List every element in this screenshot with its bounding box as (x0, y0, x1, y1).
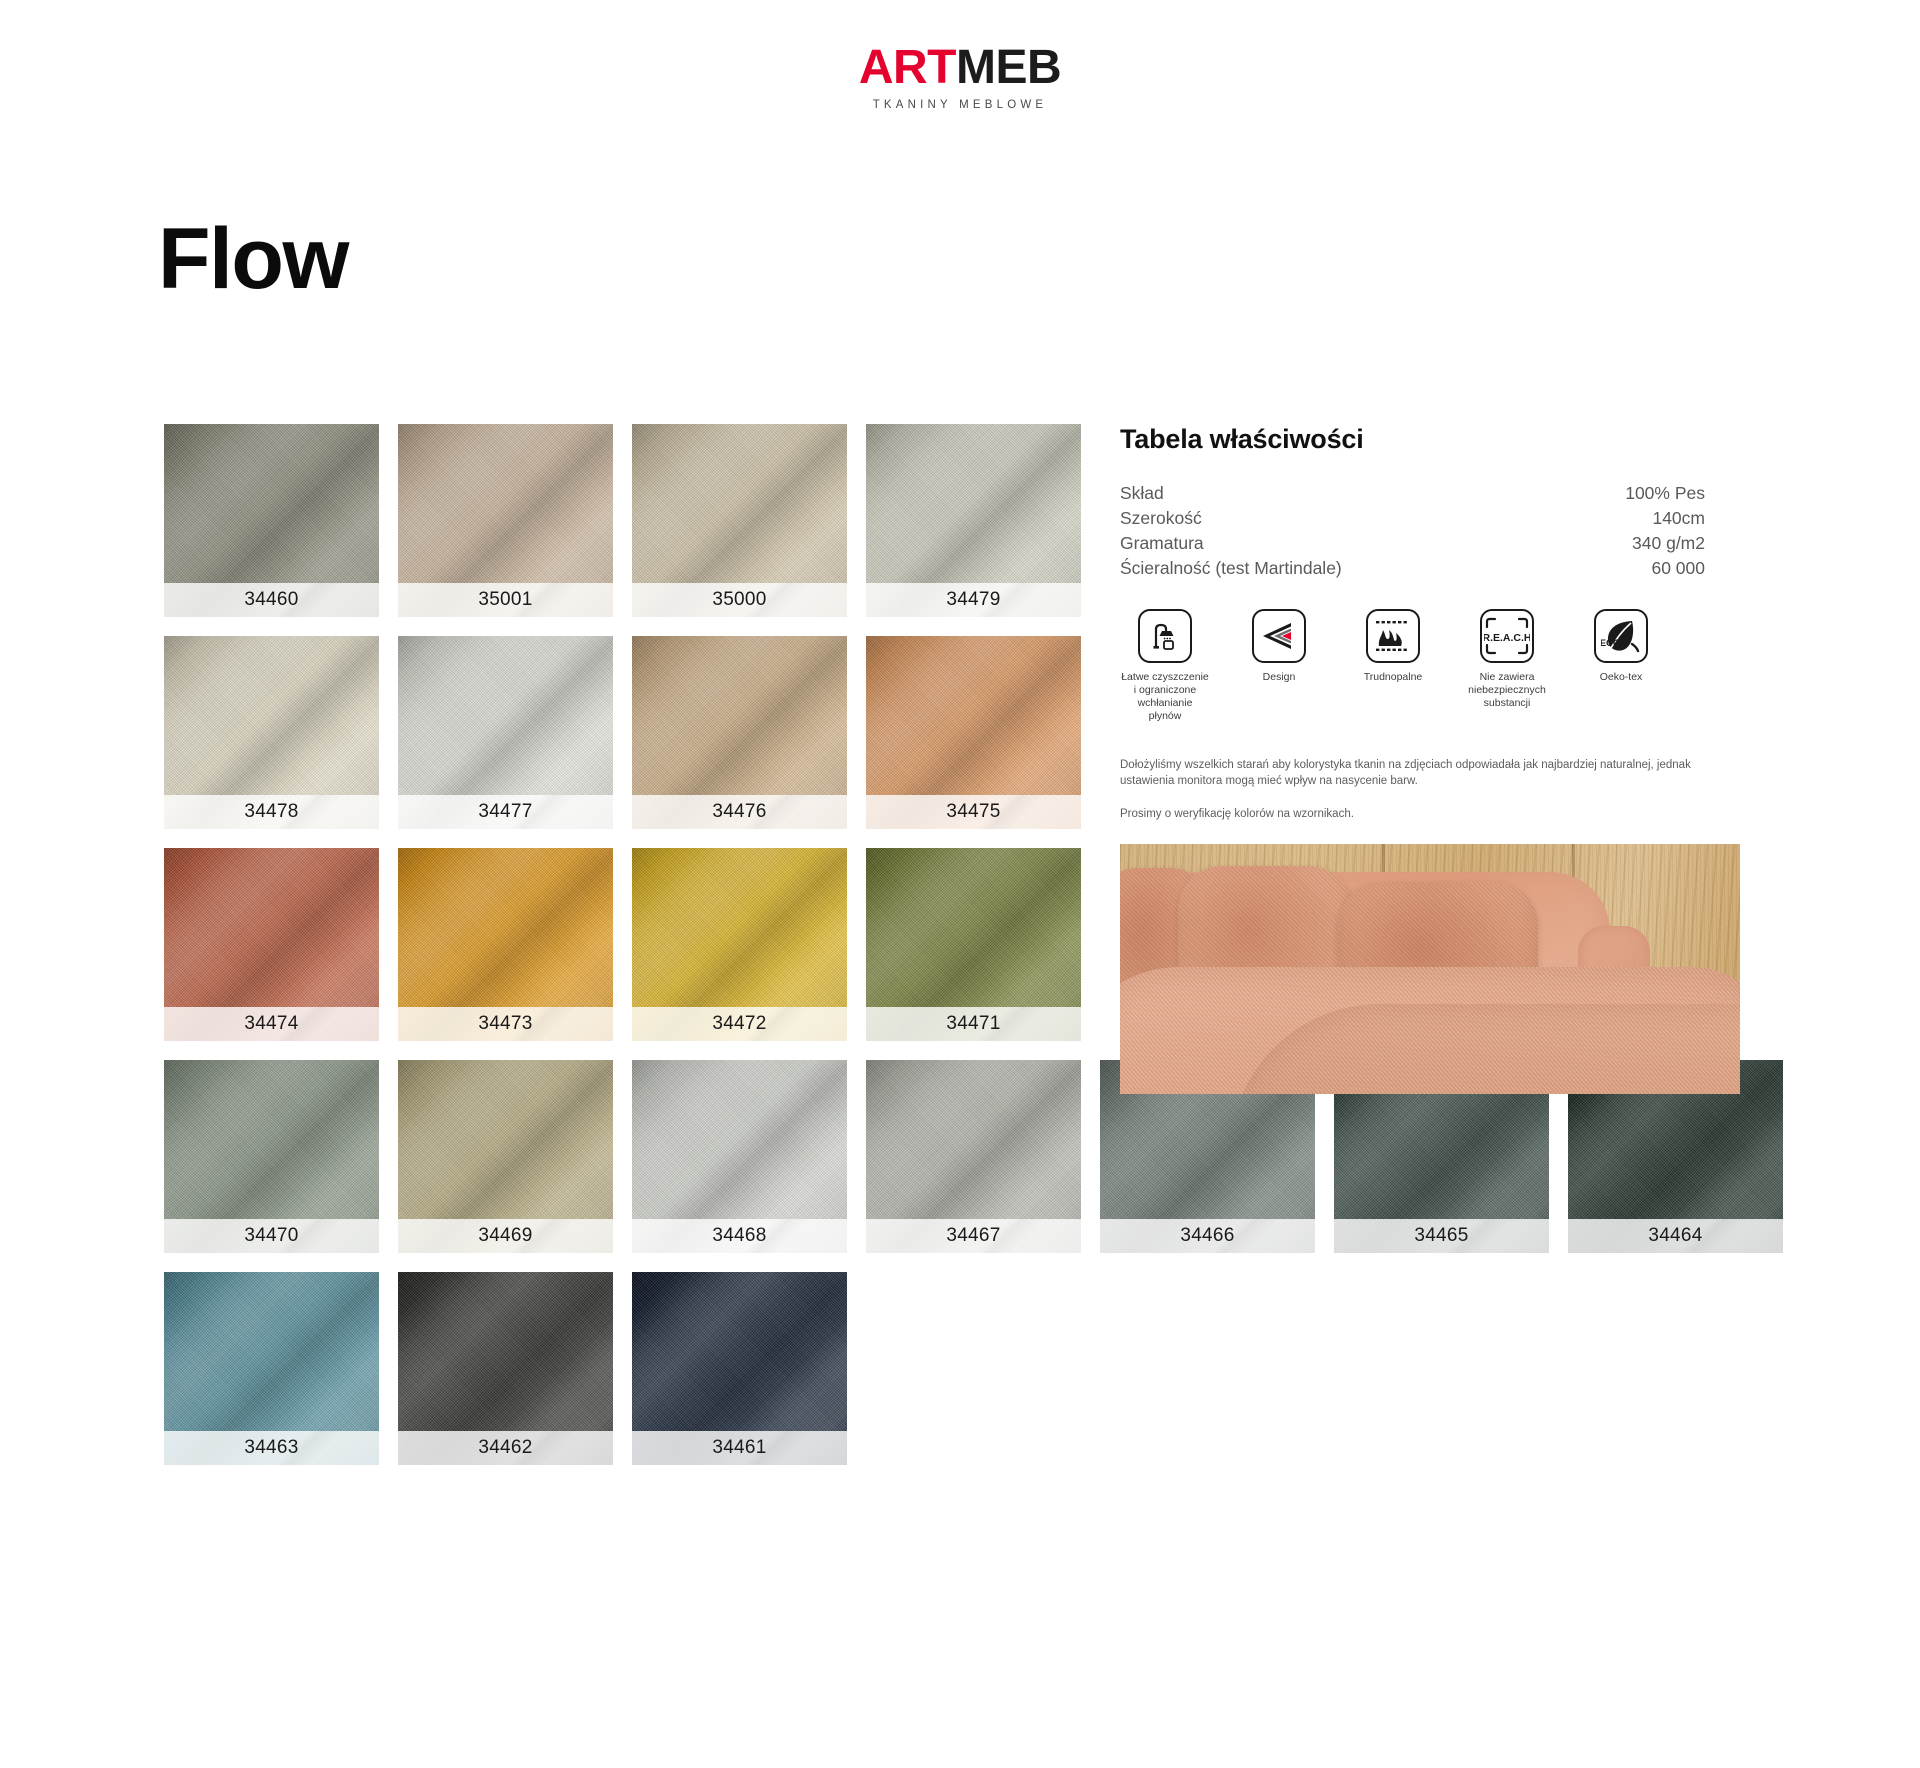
fabric-swatch[interactable]: 34479 (866, 424, 1081, 617)
fabric-swatch[interactable]: 35001 (398, 424, 613, 617)
swatch-code: 34466 (1180, 1225, 1234, 1247)
swatch-code: 34476 (712, 801, 766, 823)
swatch-code: 35001 (478, 589, 532, 611)
swatch-code: 34461 (712, 1437, 766, 1459)
feature-item-flame-retardant: Trudnopalne (1348, 609, 1438, 723)
swatch-label-band: 34478 (164, 795, 379, 829)
logo-art-text: ART (859, 41, 956, 94)
swatch-code: 34467 (946, 1225, 1000, 1247)
disclaimer-paragraph-2: Prosimy o weryfikację kolorów na wzornik… (1120, 806, 1740, 822)
fabric-swatch[interactable]: 35000 (632, 424, 847, 617)
fabric-swatch[interactable]: 34467 (866, 1060, 1081, 1253)
logo-tagline: TKANINY MEBLOWE (873, 99, 1048, 111)
brand-header: ARTMEB TKANINY MEBLOWE (0, 0, 1920, 111)
swatch-code: 34478 (244, 801, 298, 823)
svg-text:ECO: ECO (1601, 638, 1620, 649)
swatch-label-band: 35000 (632, 583, 847, 617)
easy-clean-icon (1138, 609, 1192, 663)
swatch-label-band: 34474 (164, 1007, 379, 1041)
swatch-label-band: 34473 (398, 1007, 613, 1041)
swatch-label-band: 34460 (164, 583, 379, 617)
fabric-swatch[interactable]: 34478 (164, 636, 379, 829)
property-value: 140cm (1652, 506, 1705, 531)
property-value: 60 000 (1651, 556, 1705, 581)
swatch-label-band: 34476 (632, 795, 847, 829)
swatch-code: 34462 (478, 1437, 532, 1459)
color-disclaimer: Dołożyliśmy wszelkich starań aby kolorys… (1120, 757, 1740, 822)
flame-retardant-icon (1366, 609, 1420, 663)
page-title: Flow (158, 216, 348, 302)
property-value: 100% Pes (1625, 481, 1705, 506)
swatch-code: 34464 (1648, 1225, 1702, 1247)
swatch-code: 34460 (244, 589, 298, 611)
fabric-swatch[interactable]: 34477 (398, 636, 613, 829)
svg-text:R.E.A.C.H: R.E.A.C.H (1484, 632, 1530, 644)
feature-item-reach: R.E.A.C.H Nie zawiera niebezpiecznych su… (1462, 609, 1552, 723)
property-row: Ścieralność (test Martindale)60 000 (1120, 556, 1705, 581)
swatch-code: 34479 (946, 589, 1000, 611)
reach-icon: R.E.A.C.H (1480, 609, 1534, 663)
swatch-label-band: 35001 (398, 583, 613, 617)
swatch-code: 34469 (478, 1225, 532, 1247)
property-value: 340 g/m2 (1632, 531, 1705, 556)
fabric-swatch[interactable]: 34472 (632, 848, 847, 1041)
swatch-label-band: 34479 (866, 583, 1081, 617)
feature-item-easy-clean: Łatwe czyszczenie i ograniczone wchłania… (1120, 609, 1210, 723)
swatch-label-band: 34462 (398, 1431, 613, 1465)
fabric-swatch[interactable]: 34468 (632, 1060, 847, 1253)
eco-leaf-icon: ECO (1594, 609, 1648, 663)
swatch-label-band: 34470 (164, 1219, 379, 1253)
swatch-code: 34473 (478, 1013, 532, 1035)
property-row: Szerokość140cm (1120, 506, 1705, 531)
property-label: Skład (1120, 481, 1164, 506)
disclaimer-paragraph-1: Dołożyliśmy wszelkich starań aby kolorys… (1120, 757, 1740, 789)
fabric-swatch[interactable]: 34463 (164, 1272, 379, 1465)
swatch-code: 34463 (244, 1437, 298, 1459)
sofa-photo (1120, 844, 1740, 1094)
swatch-code: 34472 (712, 1013, 766, 1035)
swatch-code: 35000 (712, 589, 766, 611)
swatch-label-band: 34464 (1568, 1219, 1783, 1253)
logo-meb-text: MEB (956, 41, 1061, 94)
fabric-swatch[interactable]: 34473 (398, 848, 613, 1041)
design-icon (1252, 609, 1306, 663)
properties-heading: Tabela właściwości (1120, 424, 1760, 455)
swatch-code: 34465 (1414, 1225, 1468, 1247)
swatch-label-band: 34461 (632, 1431, 847, 1465)
swatch-label-band: 34472 (632, 1007, 847, 1041)
properties-panel: Tabela właściwości Skład100% PesSzerokoś… (1120, 424, 1760, 1094)
feature-item-design: Design (1234, 609, 1324, 723)
swatch-row: 344633446234461 (164, 1272, 1444, 1465)
swatch-label-band: 34475 (866, 795, 1081, 829)
property-label: Szerokość (1120, 506, 1202, 531)
fabric-swatch[interactable]: 34474 (164, 848, 379, 1041)
feature-caption: Trudnopalne (1364, 671, 1423, 684)
feature-caption: Design (1263, 671, 1296, 684)
fabric-swatch[interactable]: 34470 (164, 1060, 379, 1253)
swatch-code: 34475 (946, 801, 1000, 823)
swatch-label-band: 34471 (866, 1007, 1081, 1041)
fabric-swatch[interactable]: 34469 (398, 1060, 613, 1253)
properties-table: Skład100% PesSzerokość140cmGramatura340 … (1120, 481, 1705, 581)
swatch-label-band: 34463 (164, 1431, 379, 1465)
swatch-label-band: 34466 (1100, 1219, 1315, 1253)
feature-caption: Oeko-tex (1600, 671, 1643, 684)
property-label: Ścieralność (test Martindale) (1120, 556, 1342, 581)
swatch-code: 34477 (478, 801, 532, 823)
swatch-label-band: 34469 (398, 1219, 613, 1253)
property-row: Gramatura340 g/m2 (1120, 531, 1705, 556)
swatch-label-band: 34467 (866, 1219, 1081, 1253)
fabric-swatch[interactable]: 34476 (632, 636, 847, 829)
fabric-swatch[interactable]: 34462 (398, 1272, 613, 1465)
swatch-label-band: 34477 (398, 795, 613, 829)
feature-item-eco-leaf: ECO Oeko-tex (1576, 609, 1666, 723)
swatch-code: 34471 (946, 1013, 1000, 1035)
swatch-code: 34474 (244, 1013, 298, 1035)
fabric-swatch[interactable]: 34461 (632, 1272, 847, 1465)
fabric-swatch[interactable]: 34460 (164, 424, 379, 617)
fabric-swatch[interactable]: 34475 (866, 636, 1081, 829)
property-row: Skład100% Pes (1120, 481, 1705, 506)
swatch-label-band: 34468 (632, 1219, 847, 1253)
fabric-swatch[interactable]: 34471 (866, 848, 1081, 1041)
feature-caption: Nie zawiera niebezpiecznych substancji (1462, 671, 1552, 710)
swatch-label-band: 34465 (1334, 1219, 1549, 1253)
artmeb-logo[interactable]: ARTMEB (859, 44, 1061, 92)
swatch-code: 34468 (712, 1225, 766, 1247)
property-label: Gramatura (1120, 531, 1204, 556)
feature-caption: Łatwe czyszczenie i ograniczone wchłania… (1120, 671, 1210, 723)
swatch-code: 34470 (244, 1225, 298, 1247)
feature-icons-row: Łatwe czyszczenie i ograniczone wchłania… (1120, 609, 1760, 723)
